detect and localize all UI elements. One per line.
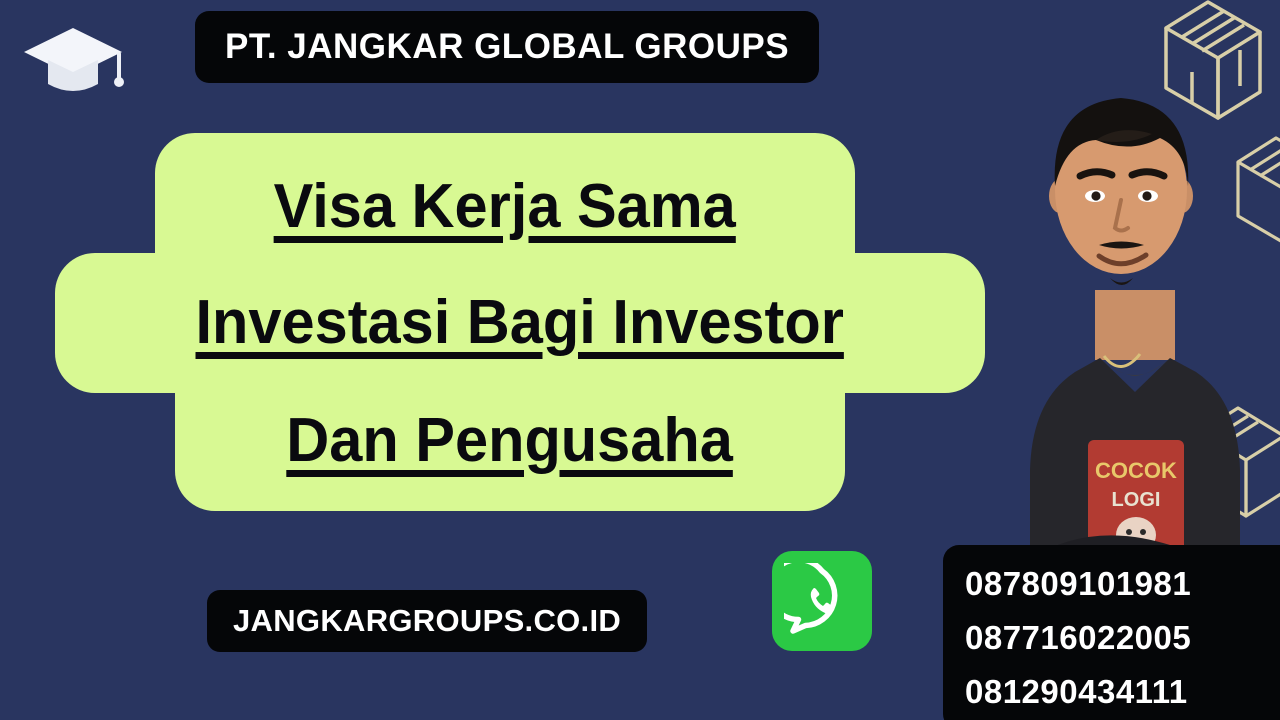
title-row-3: Dan Pengusaha [175,371,845,511]
whatsapp-glyph [784,563,860,639]
phone-numbers-block: 087809101981 087716022005 081290434111 [943,545,1280,720]
website-text: JANGKARGROUPS.CO.ID [233,603,621,639]
company-name-text: PT. JANGKAR GLOBAL GROUPS [225,27,789,67]
title-line-1: Visa Kerja Sama [274,176,736,238]
whatsapp-icon[interactable] [772,551,872,651]
promotional-banner: COCOK LOGI [0,0,1280,720]
svg-text:LOGI: LOGI [1112,489,1161,511]
company-name-badge: PT. JANGKAR GLOBAL GROUPS [195,11,819,83]
phone-number[interactable]: 087809101981 [965,557,1280,611]
phone-number[interactable]: 081290434111 [965,665,1280,719]
title-line-3: Dan Pengusaha [287,410,734,472]
website-badge[interactable]: JANGKARGROUPS.CO.ID [207,590,647,652]
phone-number[interactable]: 087716022005 [965,611,1280,665]
title-panel: Visa Kerja Sama Investasi Bagi Investor … [0,133,1000,511]
svg-text:COCOK: COCOK [1095,458,1177,483]
title-line-2: Investasi Bagi Investor [196,292,844,354]
graduation-cap-icon [18,14,128,104]
